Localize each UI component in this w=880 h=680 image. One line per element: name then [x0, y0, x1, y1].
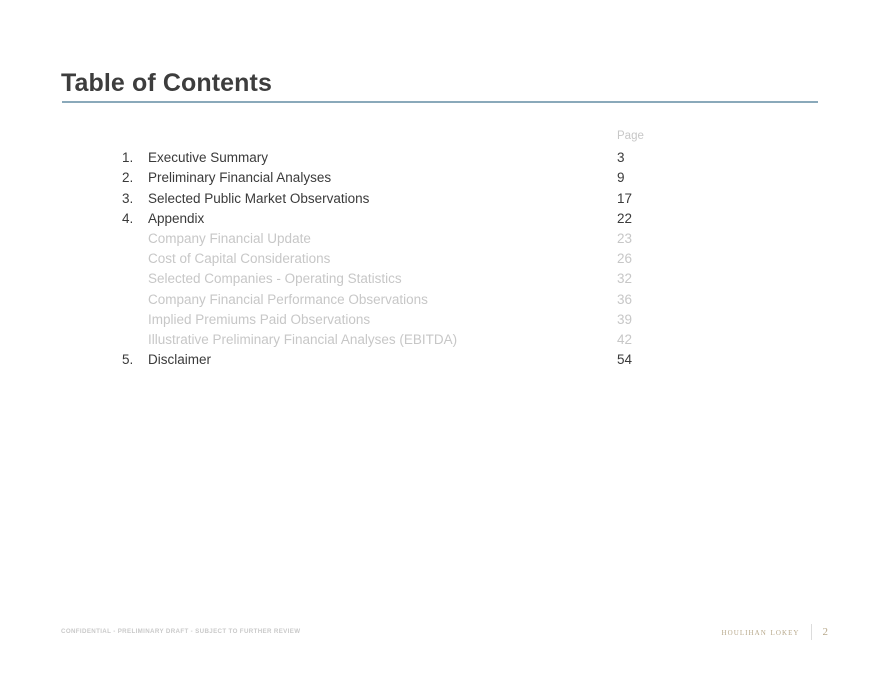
houlihan-lokey-logo: Houlihan Lokey: [722, 627, 811, 638]
toc-row[interactable]: 5.Disclaimer54: [0, 352, 880, 372]
toc-row[interactable]: Implied Premiums Paid Observations39: [0, 312, 880, 332]
toc-row-label: Disclaimer: [148, 352, 211, 367]
toc-row-number: 2.: [122, 170, 144, 185]
toc-row[interactable]: 1.Executive Summary3: [0, 150, 880, 170]
footer-confidential-notice: CONFIDENTIAL - PRELIMINARY DRAFT - SUBJE…: [61, 628, 300, 635]
table-of-contents: Page 1.Executive Summary32.Preliminary F…: [0, 130, 880, 372]
toc-row[interactable]: 3.Selected Public Market Observations17: [0, 191, 880, 211]
title-underline-rule: [62, 101, 818, 103]
footer-brand-block: Houlihan Lokey 2: [722, 624, 828, 640]
toc-row-page-number: 3: [617, 150, 625, 165]
page-title: Table of Contents: [61, 70, 272, 98]
toc-row-page-number: 9: [617, 170, 625, 185]
toc-row-page-number: 17: [617, 191, 632, 206]
toc-row[interactable]: 4.Appendix22: [0, 211, 880, 231]
toc-row[interactable]: Cost of Capital Considerations26: [0, 251, 880, 271]
toc-row-page-number: 42: [617, 332, 632, 347]
page-column-header: Page: [617, 130, 644, 142]
toc-row-page-number: 36: [617, 292, 632, 307]
toc-row-label: Selected Public Market Observations: [148, 191, 369, 206]
toc-row[interactable]: 2.Preliminary Financial Analyses9: [0, 170, 880, 190]
toc-row-number: 3.: [122, 191, 144, 206]
toc-row-label: Cost of Capital Considerations: [148, 251, 330, 266]
toc-row-page-number: 32: [617, 271, 632, 286]
toc-row-page-number: 39: [617, 312, 632, 327]
toc-row-label: Appendix: [148, 211, 204, 226]
toc-row-label: Executive Summary: [148, 150, 268, 165]
toc-row-number: 5.: [122, 352, 144, 367]
toc-row-page-number: 26: [617, 251, 632, 266]
toc-row-page-number: 54: [617, 352, 632, 367]
toc-row[interactable]: Company Financial Update23: [0, 231, 880, 251]
toc-row[interactable]: Selected Companies - Operating Statistic…: [0, 271, 880, 291]
toc-row-label: Implied Premiums Paid Observations: [148, 312, 370, 327]
toc-row-label: Illustrative Preliminary Financial Analy…: [148, 332, 457, 347]
toc-row-label: Company Financial Performance Observatio…: [148, 292, 428, 307]
toc-header-row: Page: [0, 130, 880, 150]
toc-row-label: Selected Companies - Operating Statistic…: [148, 271, 402, 286]
toc-row[interactable]: Illustrative Preliminary Financial Analy…: [0, 332, 880, 352]
footer-page-number: 2: [812, 626, 829, 638]
toc-row-label: Preliminary Financial Analyses: [148, 170, 331, 185]
toc-row[interactable]: Company Financial Performance Observatio…: [0, 292, 880, 312]
toc-row-page-number: 23: [617, 231, 632, 246]
toc-row-number: 1.: [122, 150, 144, 165]
toc-row-label: Company Financial Update: [148, 231, 311, 246]
toc-row-number: 4.: [122, 211, 144, 226]
toc-row-page-number: 22: [617, 211, 632, 226]
